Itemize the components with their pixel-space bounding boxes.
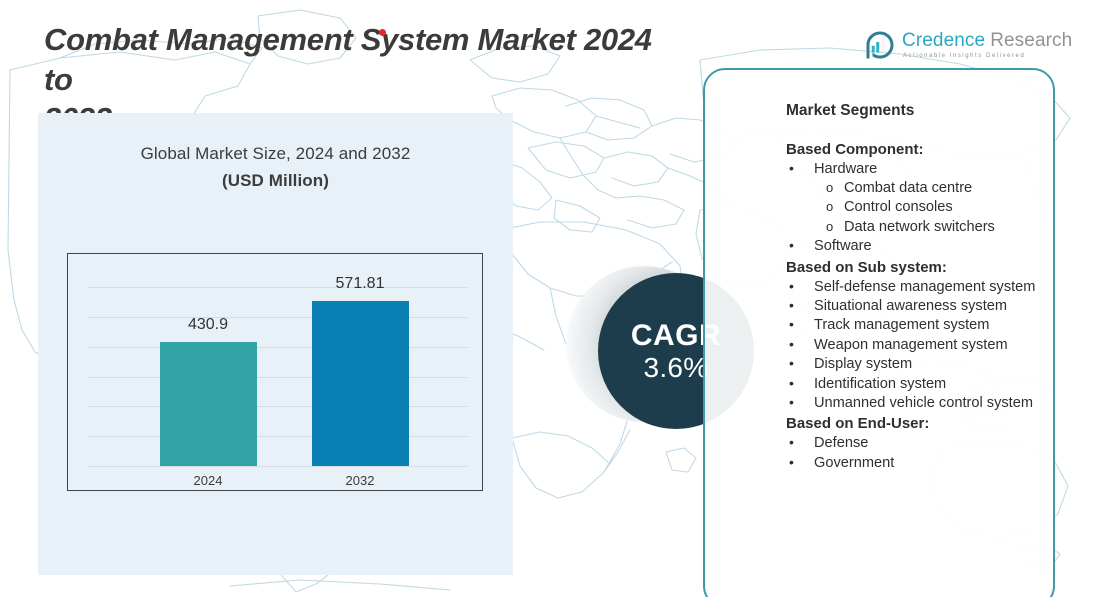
chart-title-units: (USD Million) [38,171,513,191]
logo-name-secondary: Research [990,31,1072,50]
market-segments-heading: Market Segments [786,101,1038,122]
credence-research-logo: Credence Research Actionable Insights De… [865,30,1072,60]
chart-gridline [88,436,468,437]
market-segments-content: Market Segments Based Component:•Hardwar… [786,101,1038,473]
segment-item-label: Self-defense management system [814,279,1035,295]
segment-item-label: Weapon management system [814,337,1008,353]
chart-gridline [88,466,468,467]
segment-sublist-item: oCombat data centre [786,179,1038,198]
chart-gridline [88,377,468,378]
chart-gridline [88,406,468,407]
segment-list-item: •Track management system [786,316,1038,335]
bullet-icon: • [789,315,794,334]
segment-list-item: •Weapon management system [786,336,1038,355]
chart-category-label: 2032 [282,473,439,488]
segment-item-label: Situational awareness system [814,298,1007,314]
bullet-icon: • [789,277,794,296]
segment-item-label: Display system [814,356,912,372]
segment-list-item: •Hardware [786,160,1038,179]
segment-subitem-label: Control consoles [844,199,953,215]
title-accent-dot [379,29,386,36]
segment-item-label: Hardware [814,161,877,177]
bar-chart-plot-area: 430.92024571.812032 [67,253,483,491]
segment-list-item: •Defense [786,434,1038,453]
chart-bar [160,342,257,466]
chart-bar-value-label: 571.81 [282,275,439,293]
logo-name-primary: Credence [902,31,985,50]
infographic-canvas: Combat Management System Market 2024 to … [0,0,1095,597]
chart-category-label: 2024 [130,473,287,488]
sub-bullet-icon: o [826,179,833,196]
logo-wordmark: Credence Research Actionable Insights De… [902,31,1072,59]
segment-item-label: Government [814,455,894,471]
segment-list-item: •Self-defense management system [786,278,1038,297]
bullet-icon: • [789,453,794,472]
cagr-value: 3.6% [643,353,708,382]
chart-bar [312,301,409,466]
bullet-icon: • [789,374,794,393]
segment-subitem-label: Data network switchers [844,219,995,235]
bullet-icon: • [789,433,794,452]
bullet-icon: • [789,393,794,412]
segment-list: •Self-defense management system•Situatio… [786,278,1038,414]
credence-logo-icon [865,30,895,60]
segment-list-item: •Unmanned vehicle control system [786,394,1038,413]
segment-group-heading: Based Component: [786,140,1038,160]
segment-subitem-label: Combat data centre [844,180,972,196]
bullet-icon: • [789,159,794,178]
segment-group-heading: Based on Sub system: [786,258,1038,278]
segment-list-item: •Situational awareness system [786,297,1038,316]
sub-bullet-icon: o [826,218,833,235]
bullet-icon: • [789,236,794,255]
chart-title-main: Global Market Size, 2024 and 2032 [38,144,513,164]
page-title-line1: Combat Management System Market 2024 to [44,22,652,97]
segment-list-item: •Software [786,237,1038,256]
segment-list: •HardwareoCombat data centreoControl con… [786,160,1038,257]
bullet-icon: • [789,354,794,373]
segment-sublist: oCombat data centreoControl consolesoDat… [786,179,1038,237]
segment-list-item: •Identification system [786,375,1038,394]
segment-item-label: Identification system [814,376,946,392]
segment-list-item: •Government [786,454,1038,473]
segment-group-heading: Based on End-User: [786,414,1038,434]
segment-item-label: Unmanned vehicle control system [814,395,1033,411]
segment-sublist-item: oData network switchers [786,218,1038,237]
sub-bullet-icon: o [826,198,833,215]
bullet-icon: • [789,335,794,354]
logo-tagline: Actionable Insights Delivered [903,53,1072,59]
segment-item-label: Software [814,238,872,254]
segment-item-label: Defense [814,435,868,451]
segment-list-item: •Display system [786,355,1038,374]
chart-gridline [88,347,468,348]
chart-bar-value-label: 430.9 [130,316,287,334]
chart-title: Global Market Size, 2024 and 2032 (USD M… [38,144,513,191]
segment-sublist-item: oControl consoles [786,198,1038,217]
bullet-icon: • [789,296,794,315]
segment-list: •Defense•Government [786,434,1038,473]
segment-item-label: Track management system [814,317,989,333]
